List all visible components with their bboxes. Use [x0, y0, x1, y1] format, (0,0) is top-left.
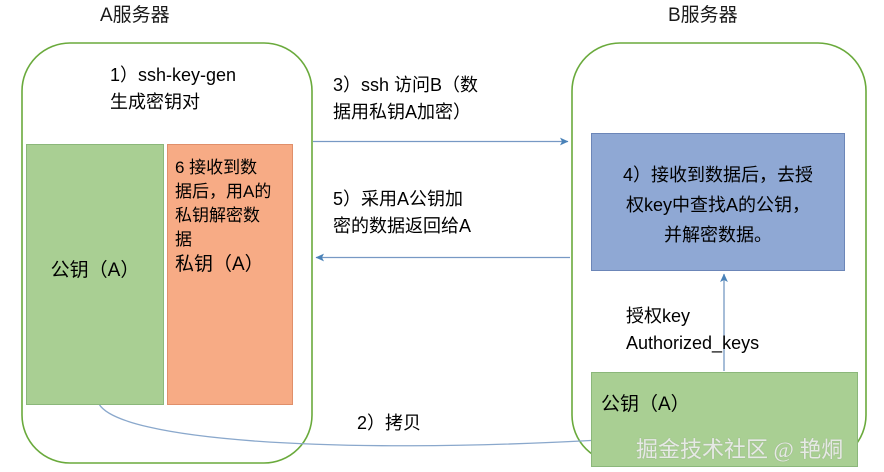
private-key-a-label: 私钥（A） [175, 253, 290, 277]
watermark: 掘金技术社区 @ 艳烔 [636, 436, 843, 464]
step6-line4: 据 [175, 228, 290, 252]
step4-line1: 4）接收到数据后，去授 [598, 160, 838, 190]
authorized-keys-line2: Authorized_keys [626, 330, 759, 357]
authorized-keys-text: 授权key Authorized_keys [626, 303, 759, 357]
step2-label: 2）拷贝 [357, 410, 421, 436]
step3-text: 3）ssh 访问B（数 据用私钥A加密） [333, 72, 568, 126]
step4-line2: 权key中查找A的公钥， [598, 190, 838, 220]
step3-line1: 3）ssh 访问B（数 [333, 72, 568, 99]
public-key-a-label: 公钥（A） [30, 258, 160, 284]
step3-line2: 据用私钥A加密） [333, 99, 568, 126]
step5-line1: 5）采用A公钥加 [333, 186, 568, 213]
step1-line1: 1）ssh-key-gen [110, 62, 300, 89]
step6-line3: 私钥解密数 [175, 204, 290, 228]
copy-curve [99, 404, 600, 446]
step1-line2: 生成密钥对 [110, 89, 300, 116]
step6-line2: 据后，用A的 [175, 180, 290, 204]
step4-line3: 并解密数据。 [598, 220, 838, 250]
diagram-canvas: A服务器 B服务器 1）ssh-key-gen 生成密钥 [0, 0, 884, 472]
server-a-title: A服务器 [100, 4, 170, 28]
step6-text: 6 接收到数 据后，用A的 私钥解密数 据 私钥（A） [175, 156, 290, 277]
public-key-b-label: 公钥（A） [601, 392, 690, 418]
step5-line2: 密的数据返回给A [333, 213, 568, 240]
server-b-title: B服务器 [668, 4, 738, 28]
step6-line1: 6 接收到数 [175, 156, 290, 180]
step1-text: 1）ssh-key-gen 生成密钥对 [110, 62, 300, 116]
step5-text: 5）采用A公钥加 密的数据返回给A [333, 186, 568, 240]
step4-text: 4）接收到数据后，去授 权key中查找A的公钥， 并解密数据。 [598, 160, 838, 250]
authorized-keys-line1: 授权key [626, 303, 759, 330]
